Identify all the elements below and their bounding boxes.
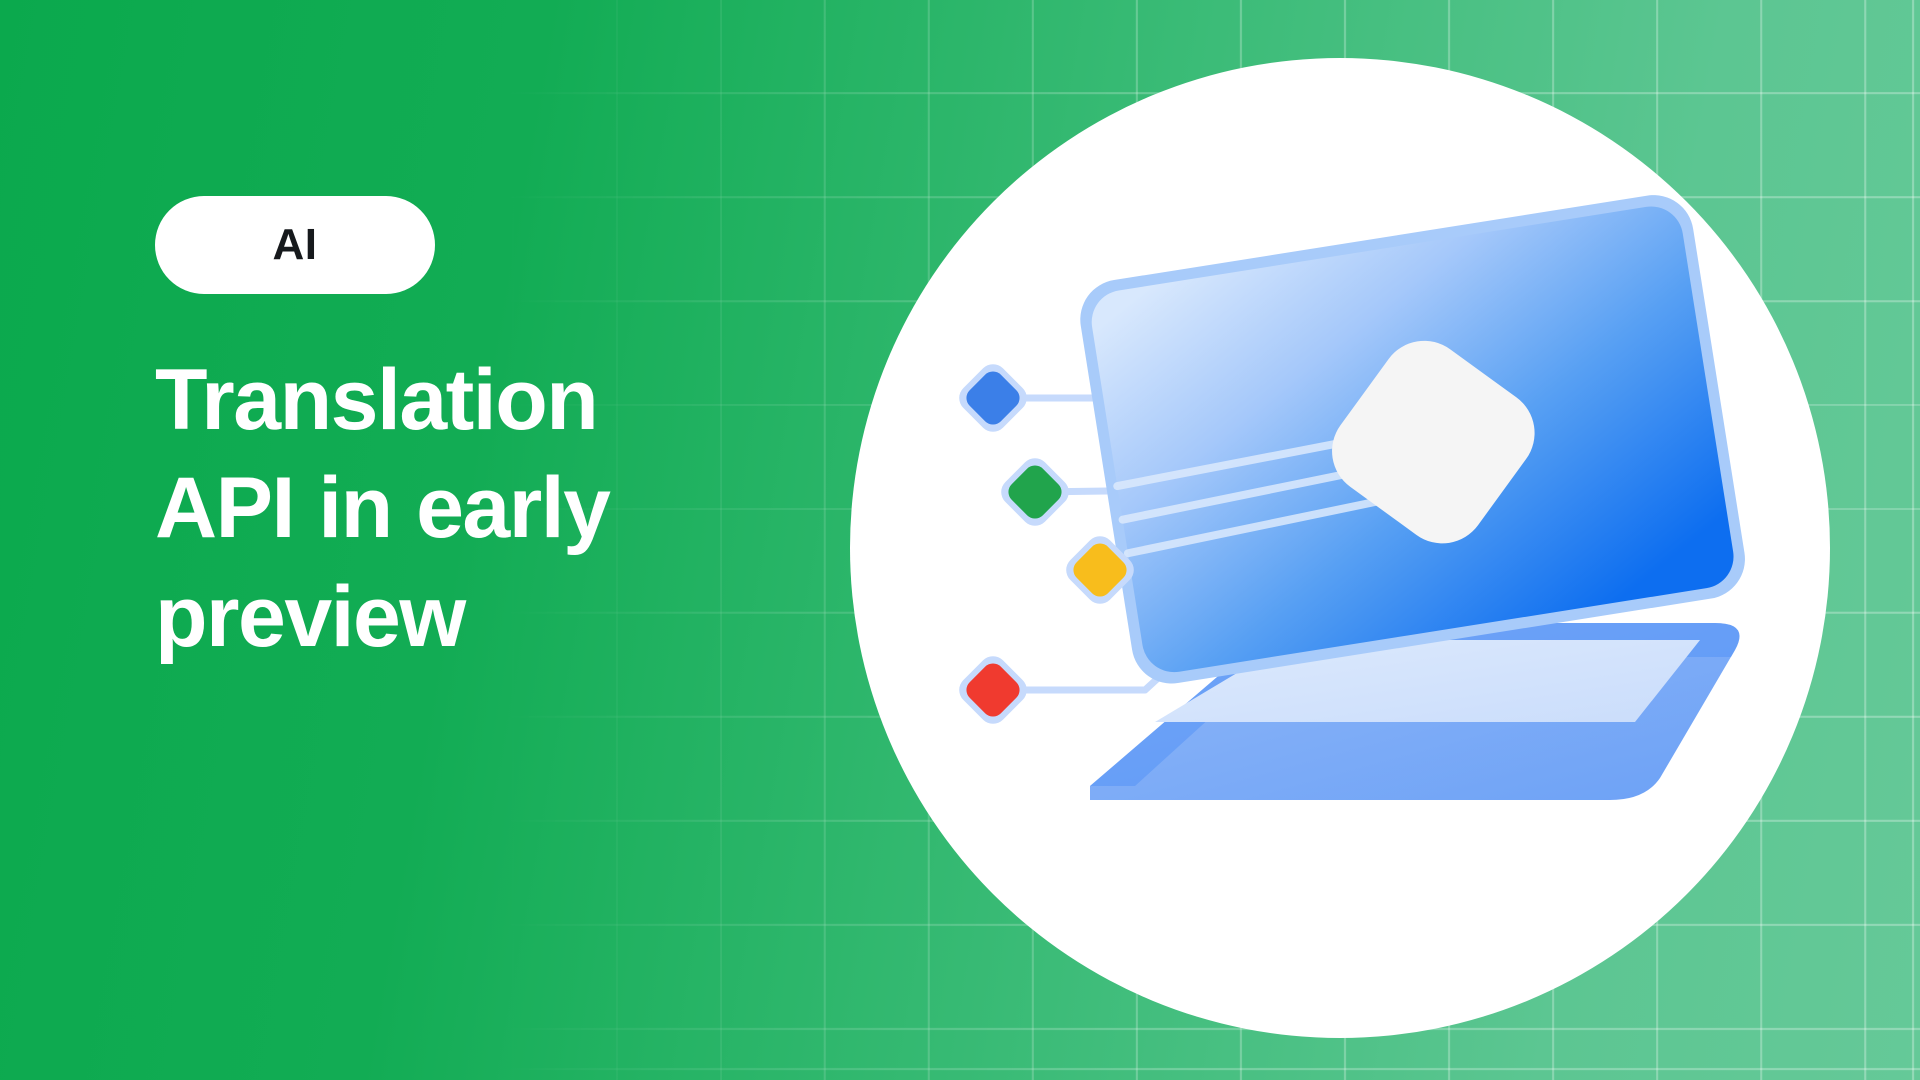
ai-badge: AI [155,196,435,294]
headline-line-2: API in early [155,454,715,562]
banner-canvas: AI Translation API in early preview [0,0,1920,1080]
text-column: AI Translation API in early preview [155,196,775,671]
headline-line-3: preview [155,563,715,671]
illustration [845,50,1845,1050]
headline-line-1: Translation [155,346,715,454]
page-title: Translation API in early preview [155,346,715,671]
